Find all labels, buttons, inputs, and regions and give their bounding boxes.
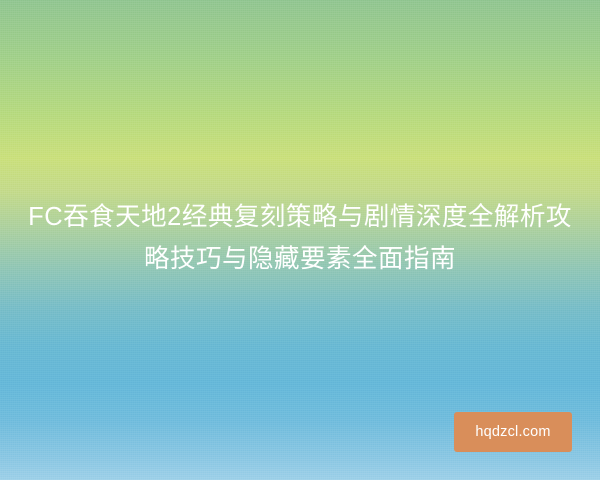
banner-title: FC吞食天地2经典复刻策略与剧情深度全解析攻略技巧与隐藏要素全面指南	[26, 196, 574, 280]
watermark-label: hqdzcl.com	[475, 424, 550, 440]
banner-image: FC吞食天地2经典复刻策略与剧情深度全解析攻略技巧与隐藏要素全面指南 hqdzc…	[0, 0, 600, 480]
banner-title-container: FC吞食天地2经典复刻策略与剧情深度全解析攻略技巧与隐藏要素全面指南	[0, 196, 600, 280]
watermark-badge: hqdzcl.com	[454, 412, 572, 452]
